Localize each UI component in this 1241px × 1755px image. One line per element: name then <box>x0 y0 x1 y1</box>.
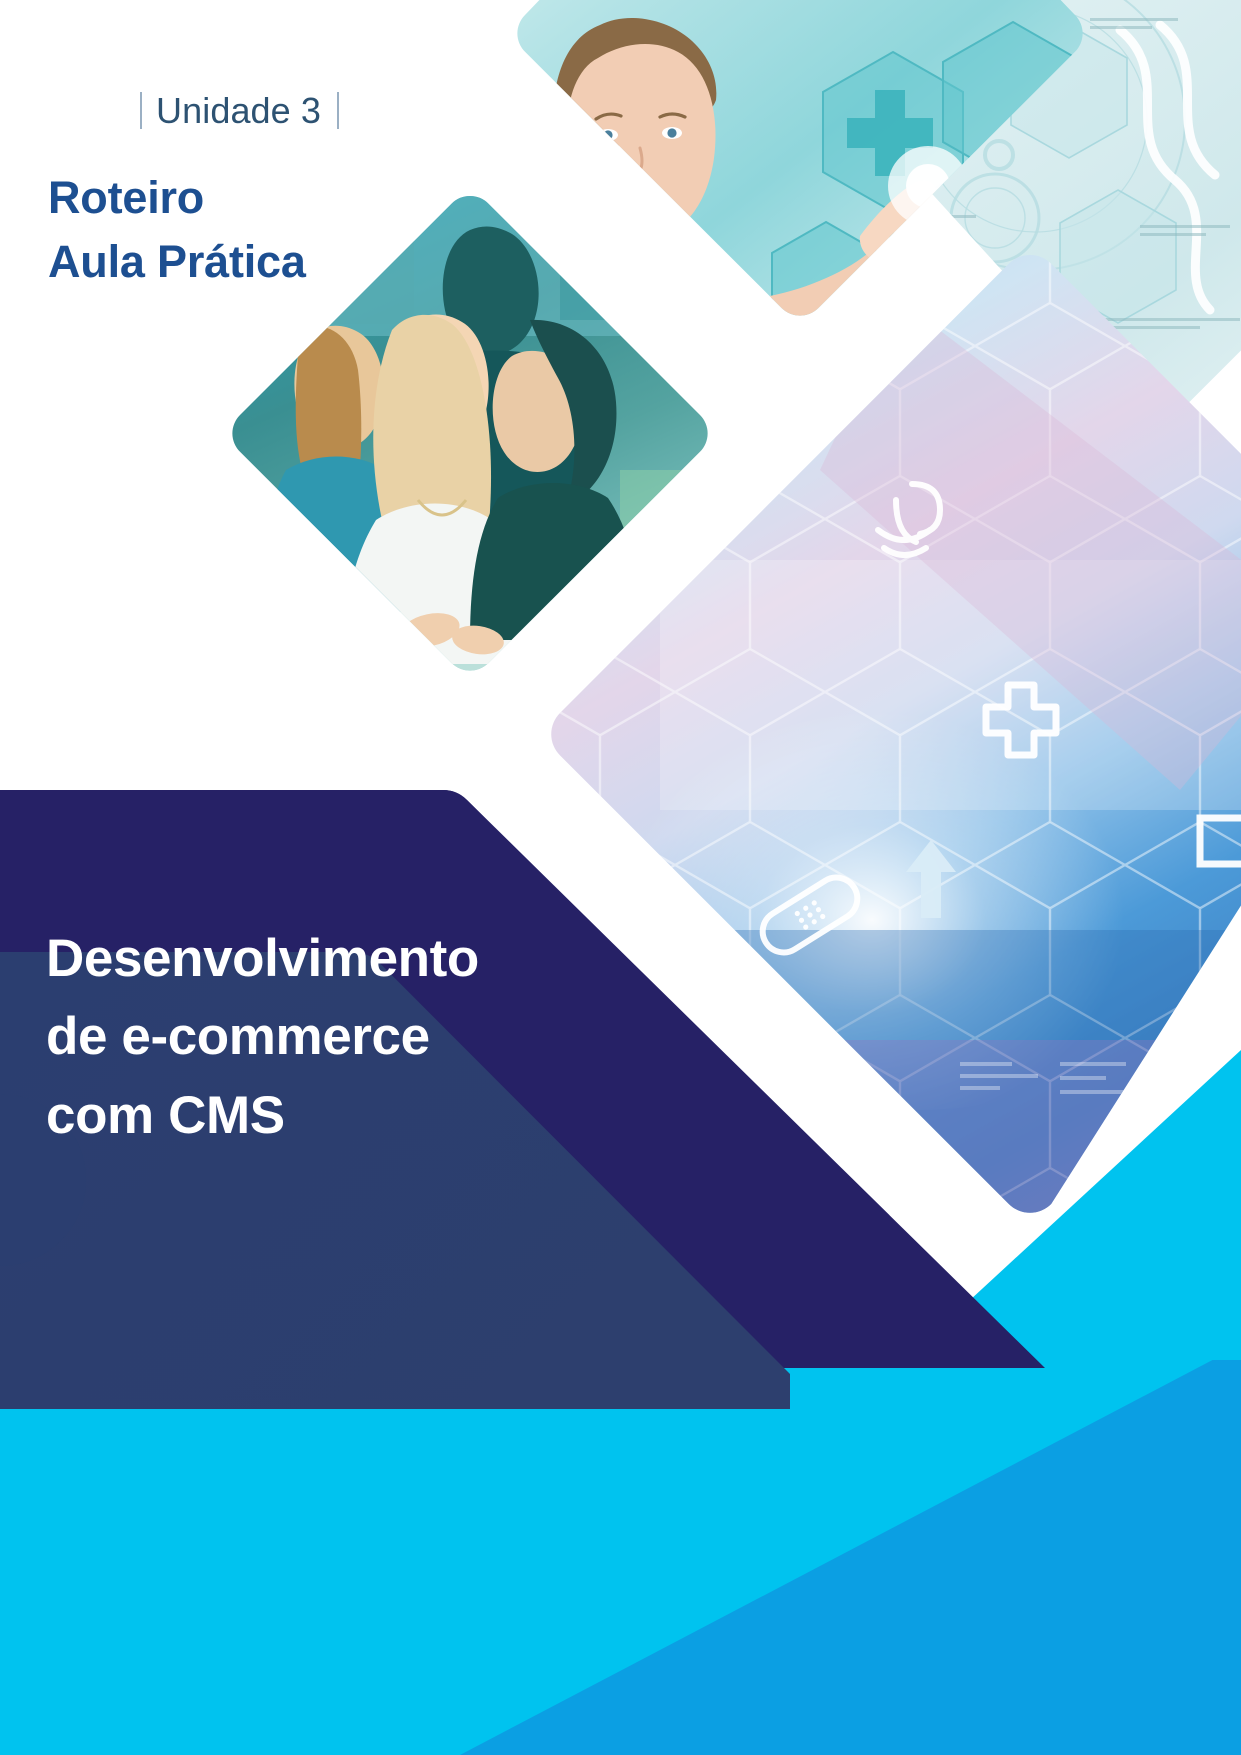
page-title-line-2: de e-commerce <box>46 998 646 1076</box>
cover-page: Unidade 3 Roteiro Aula Prática Desenvolv… <box>0 0 1241 1755</box>
page-title-line-3: com CMS <box>46 1077 646 1155</box>
unit-rule-right <box>337 92 339 129</box>
unit-label: Unidade 3 <box>156 88 321 133</box>
unit-row: Unidade 3 <box>140 88 339 133</box>
document-kind-line-2: Aula Prática <box>48 230 306 294</box>
page-title-line-1: Desenvolvimento <box>46 920 646 998</box>
document-kind: Roteiro Aula Prática <box>48 166 306 294</box>
unit-rule-left <box>140 92 142 129</box>
page-title: Desenvolvimento de e-commerce com CMS <box>46 920 646 1155</box>
cover-text-layer: Unidade 3 Roteiro Aula Prática Desenvolv… <box>0 0 1241 1755</box>
document-kind-line-1: Roteiro <box>48 166 306 230</box>
